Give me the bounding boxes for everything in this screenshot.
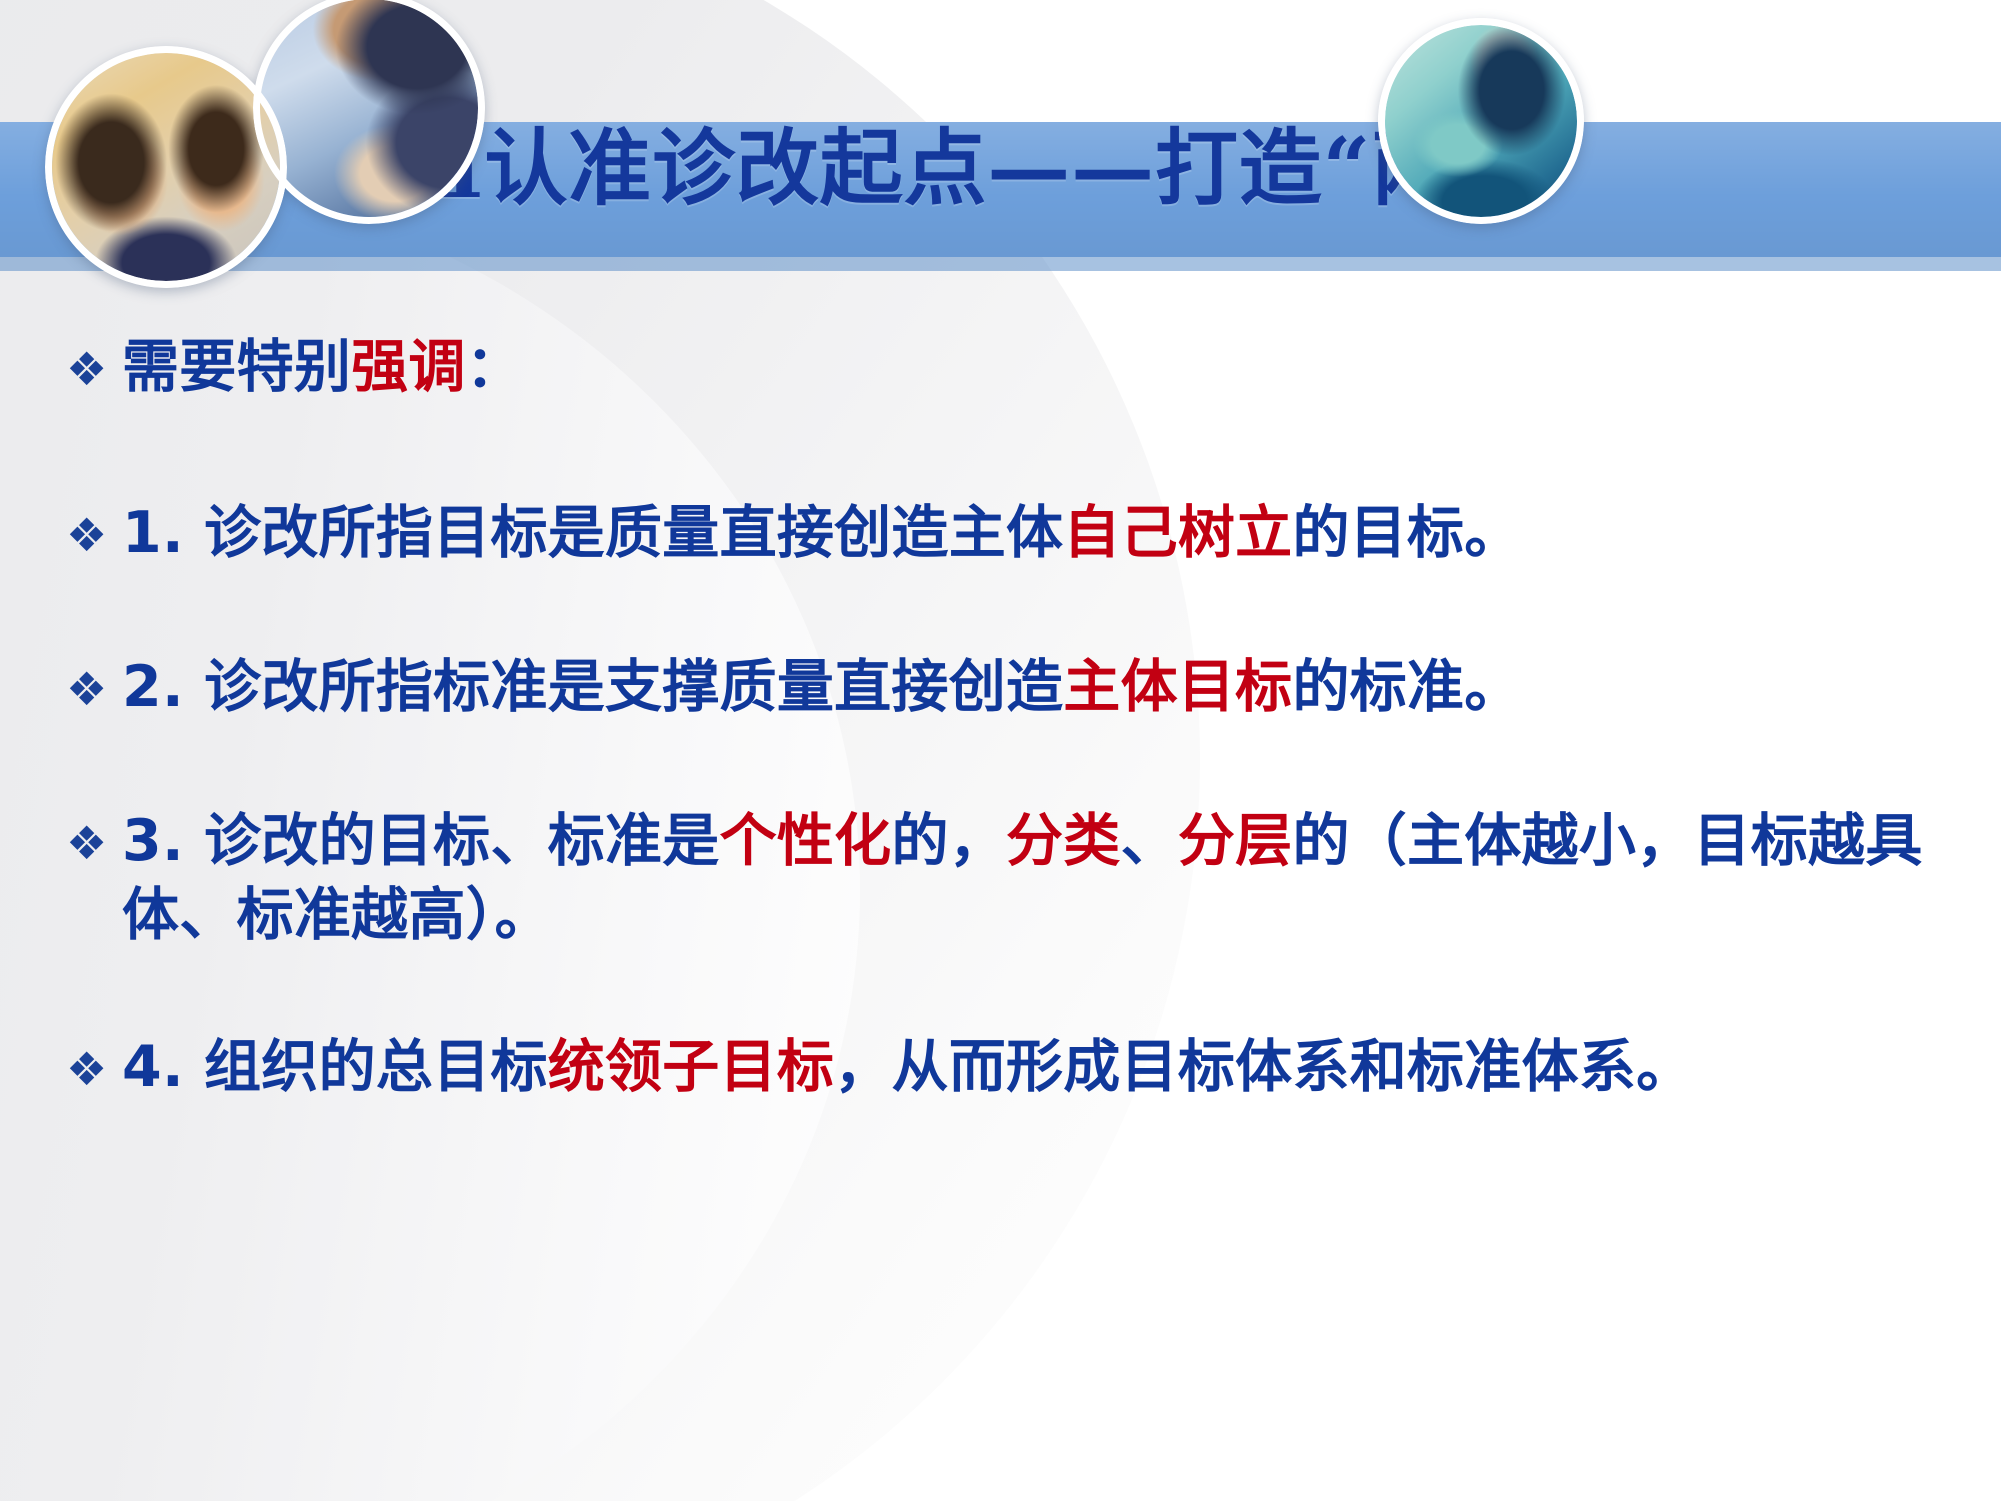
diamond-bullet-icon: ❖ — [66, 1046, 122, 1092]
text-run-4: 、 — [1121, 808, 1178, 874]
text-run-0: 3. 诊改的目标、标准是 — [122, 808, 720, 874]
diamond-bullet-icon: ❖ — [66, 346, 122, 392]
photo-office-image — [52, 53, 280, 281]
text-run-3: 分类 — [1006, 808, 1121, 874]
text-run-2: 的， — [891, 808, 1006, 874]
diamond-bullet-icon: ❖ — [66, 820, 122, 866]
text-run-0: 需要特别 — [122, 334, 351, 400]
photo-handshake-image — [260, 0, 478, 217]
list-item: ❖ 1. 诊改所指目标是质量直接创造主体自己树立的目标。 — [0, 496, 2001, 570]
photo-presenter — [1378, 18, 1584, 224]
bullet-list: ❖ 需要特别强调： ❖ 1. 诊改所指目标是质量直接创造主体自己树立的目标。 ❖… — [0, 330, 2001, 1105]
text-run-2: ： — [466, 334, 523, 400]
photo-handshake — [253, 0, 485, 224]
text-run-1: 自己树立 — [1063, 500, 1292, 566]
text-run-2: 的目标。 — [1292, 500, 1521, 566]
text-run-1: 主体目标 — [1063, 654, 1292, 720]
bullet-text-2: 2. 诊改所指标准是支撑质量直接创造主体目标的标准。 — [122, 650, 1947, 724]
photo-presenter-image — [1385, 25, 1577, 217]
text-run-0: 1. 诊改所指目标是质量直接创造主体 — [122, 500, 1063, 566]
title-band-shadow — [0, 257, 2001, 271]
diamond-bullet-icon: ❖ — [66, 512, 122, 558]
text-run-5: 分层 — [1178, 808, 1293, 874]
diamond-bullet-icon: ❖ — [66, 666, 122, 712]
bullet-text-1: 1. 诊改所指目标是质量直接创造主体自己树立的目标。 — [122, 496, 1947, 570]
list-item: ❖ 需要特别强调： — [0, 330, 2001, 404]
bullet-text-3: 3. 诊改的目标、标准是个性化的，分类、分层的（主体越小，目标越具体、标准越高）… — [122, 804, 1947, 952]
list-item: ❖ 3. 诊改的目标、标准是个性化的，分类、分层的（主体越小，目标越具体、标准越… — [0, 804, 2001, 952]
text-run-2: 的标准。 — [1292, 654, 1521, 720]
text-run-1: 强调 — [351, 334, 466, 400]
presentation-slide: Ⅱ认准诊改起点——打造“两链” ❖ 需要特别强调： ❖ 1. 诊改所指目标是质量… — [0, 0, 2001, 1501]
text-run-1: 个性化 — [720, 808, 892, 874]
text-run-0: 4. 组织的总目标 — [122, 1034, 548, 1100]
photo-office — [45, 46, 287, 288]
text-run-2: ，从而形成目标体系和标准体系。 — [834, 1034, 1693, 1100]
text-run-0: 2. 诊改所指标准是支撑质量直接创造 — [122, 654, 1063, 720]
bullet-text-4: 4. 组织的总目标统领子目标，从而形成目标体系和标准体系。 — [122, 1030, 1947, 1104]
text-run-1: 统领子目标 — [548, 1034, 834, 1100]
list-item: ❖ 2. 诊改所指标准是支撑质量直接创造主体目标的标准。 — [0, 650, 2001, 724]
bullet-text-0: 需要特别强调： — [122, 330, 1947, 404]
list-item: ❖ 4. 组织的总目标统领子目标，从而形成目标体系和标准体系。 — [0, 1030, 2001, 1104]
